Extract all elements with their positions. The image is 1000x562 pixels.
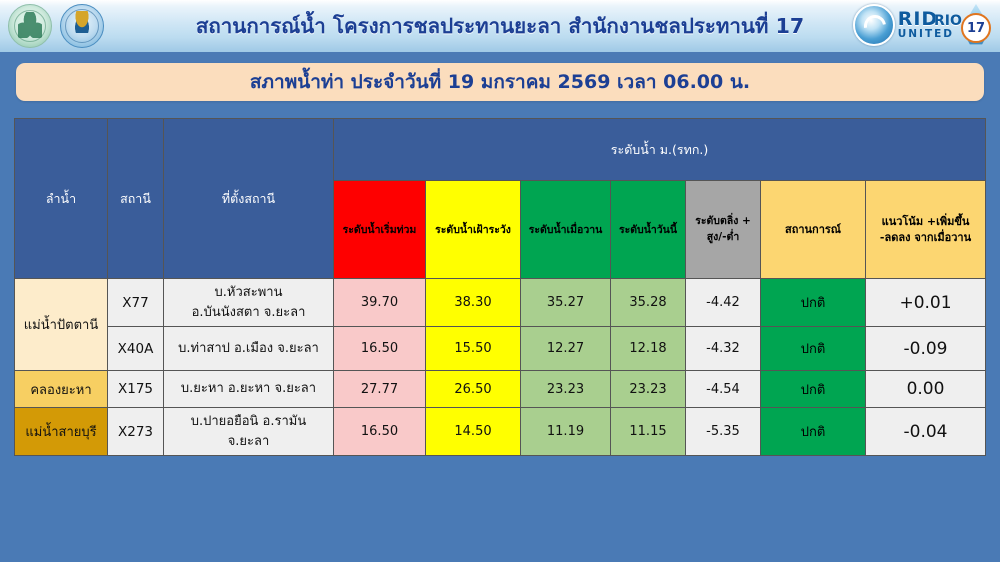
cell-situation-badge: ปกติ	[761, 371, 866, 408]
table-header-row-group: ลำน้ำ สถานี ที่ตั้งสถานี ระดับน้ำ ม.(รทก…	[15, 119, 986, 181]
cell-location: บ.ปายอยือนิ อ.รามัน จ.ยะลา	[164, 408, 334, 456]
location-line-1: บ.ยะหา อ.ยะหา จ.ยะลา	[167, 379, 330, 399]
bank-level-line-1: ระดับตลิ่ง +	[689, 214, 757, 229]
cell-trend: 0.00	[866, 371, 986, 408]
cell-warning-level: 26.50	[426, 371, 521, 408]
cell-level-today: 12.18	[611, 327, 686, 371]
trend-line-1: แนวโน้ม +เพิ่มขึ้น	[869, 214, 982, 230]
cell-level-yesterday: 35.27	[521, 279, 611, 327]
cell-flood-level: 27.77	[334, 371, 426, 408]
cell-level-today: 23.23	[611, 371, 686, 408]
garuda-seal-icon	[8, 4, 52, 48]
col-header-flood-level: ระดับน้ำเริ่มท่วม	[334, 181, 426, 279]
cell-level-yesterday: 12.27	[521, 327, 611, 371]
location-line-2: จ.ยะลา	[167, 432, 330, 452]
cell-trend: -0.09	[866, 327, 986, 371]
col-header-station: สถานี	[108, 119, 164, 279]
bank-level-line-2: สูง/-ต่ำ	[689, 230, 757, 245]
table-row: คลองยะหา X175 บ.ยะหา อ.ยะหา จ.ยะลา 27.77…	[15, 371, 986, 408]
cell-location: บ.ท่าสาป อ.เมือง จ.ยะลา	[164, 327, 334, 371]
cell-station: X175	[108, 371, 164, 408]
rio-badge-label: RIO	[934, 13, 962, 29]
cell-warning-level: 38.30	[426, 279, 521, 327]
location-line-1: บ.ปายอยือนิ อ.รามัน	[167, 412, 330, 432]
table-row: X40A บ.ท่าสาป อ.เมือง จ.ยะลา 16.50 15.50…	[15, 327, 986, 371]
cell-river: แม่น้ำปัตตานี	[15, 279, 108, 371]
col-header-trend: แนวโน้ม +เพิ่มขึ้น -ลดลง จากเมื่อวาน	[866, 181, 986, 279]
water-level-table-container: ลำน้ำ สถานี ที่ตั้งสถานี ระดับน้ำ ม.(รทก…	[14, 118, 985, 456]
location-line-1: บ.ท่าสาป อ.เมือง จ.ยะลา	[167, 339, 330, 359]
table-row: แม่น้ำปัตตานี X77 บ.หัวสะพาน อ.บันนังสตา…	[15, 279, 986, 327]
cell-level-yesterday: 23.23	[521, 371, 611, 408]
col-header-location: ที่ตั้งสถานี	[164, 119, 334, 279]
royal-irrigation-emblem-icon	[60, 4, 104, 48]
cell-level-yesterday: 11.19	[521, 408, 611, 456]
cell-situation-badge: ปกติ	[761, 408, 866, 456]
page-title: สถานการณ์น้ำ โครงการชลประทานยะลา สำนักงา…	[150, 0, 850, 52]
report-date-banner: สภาพน้ำท่า ประจำวันที่ 19 มกราคม 2569 เว…	[16, 63, 984, 101]
col-header-bank-level: ระดับตลิ่ง + สูง/-ต่ำ	[686, 181, 761, 279]
cell-level-today: 35.28	[611, 279, 686, 327]
rid-swirl-icon	[853, 4, 895, 46]
cell-bank-level: -4.42	[686, 279, 761, 327]
page-header: สถานการณ์น้ำ โครงการชลประทานยะลา สำนักงา…	[0, 0, 1000, 52]
cell-station: X273	[108, 408, 164, 456]
location-line-1: บ.หัวสะพาน	[167, 283, 330, 303]
cell-bank-level: -5.35	[686, 408, 761, 456]
cell-flood-level: 39.70	[334, 279, 426, 327]
col-header-river: ลำน้ำ	[15, 119, 108, 279]
cell-bank-level: -4.32	[686, 327, 761, 371]
cell-situation-badge: ปกติ	[761, 279, 866, 327]
col-header-level-yesterday: ระดับน้ำเมื่อวาน	[521, 181, 611, 279]
header-emblems	[8, 4, 104, 48]
cell-trend: -0.04	[866, 408, 986, 456]
cell-warning-level: 15.50	[426, 327, 521, 371]
rio-badge-number: 17	[961, 13, 991, 43]
cell-flood-level: 16.50	[334, 327, 426, 371]
col-header-warning-level: ระดับน้ำเฝ้าระวัง	[426, 181, 521, 279]
cell-station: X40A	[108, 327, 164, 371]
cell-trend: +0.01	[866, 279, 986, 327]
cell-situation-badge: ปกติ	[761, 327, 866, 371]
col-header-level-today: ระดับน้ำวันนี้	[611, 181, 686, 279]
water-level-table: ลำน้ำ สถานี ที่ตั้งสถานี ระดับน้ำ ม.(รทก…	[14, 118, 986, 456]
cell-location: บ.หัวสะพาน อ.บันนังสตา จ.ยะลา	[164, 279, 334, 327]
cell-level-today: 11.15	[611, 408, 686, 456]
cell-flood-level: 16.50	[334, 408, 426, 456]
cell-location: บ.ยะหา อ.ยะหา จ.ยะลา	[164, 371, 334, 408]
col-header-water-level-group: ระดับน้ำ ม.(รทก.)	[334, 119, 986, 181]
rid-logo-subtext: UNITED	[898, 29, 954, 40]
cell-river: คลองยะหา	[15, 371, 108, 408]
cell-warning-level: 14.50	[426, 408, 521, 456]
cell-river: แม่น้ำสายบุรี	[15, 408, 108, 456]
col-header-situation: สถานการณ์	[761, 181, 866, 279]
header-logos: RID UNITED RIO 17	[853, 3, 994, 47]
cell-bank-level: -4.54	[686, 371, 761, 408]
location-line-2: อ.บันนังสตา จ.ยะลา	[167, 303, 330, 323]
cell-station: X77	[108, 279, 164, 327]
table-row: แม่น้ำสายบุรี X273 บ.ปายอยือนิ อ.รามัน จ…	[15, 408, 986, 456]
rio-17-badge: RIO 17	[958, 3, 994, 47]
trend-line-2: -ลดลง จากเมื่อวาน	[869, 230, 982, 246]
